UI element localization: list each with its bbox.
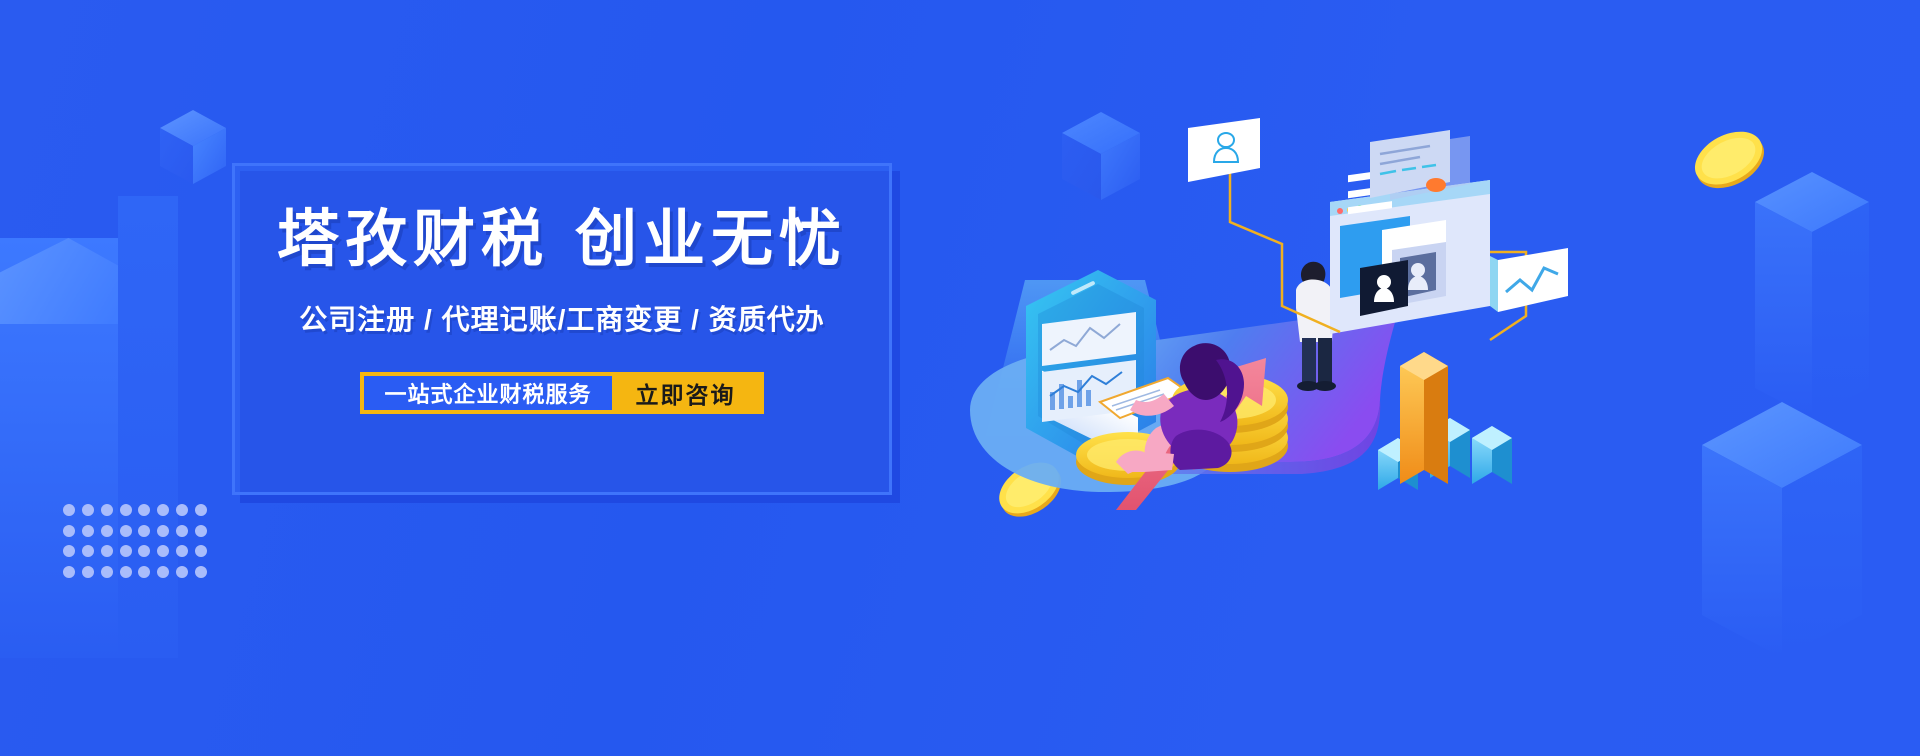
page-title: 塔孜财税创业无忧 — [277, 207, 847, 272]
headline-part-1: 塔孜财税 — [277, 205, 549, 274]
service-tag-label: 一站式企业财税服务 — [364, 376, 611, 410]
coin-icon — [1688, 122, 1770, 196]
decor-left-pillar-top — [0, 238, 118, 324]
consult-now-button[interactable]: 立即咨询 — [612, 376, 760, 410]
cta-group[interactable]: 一站式企业财税服务 立即咨询 — [360, 372, 763, 414]
cube-icon — [1700, 400, 1865, 660]
headline-part-2: 创业无忧 — [575, 205, 847, 274]
isometric-finance-illustration — [930, 110, 1570, 510]
services-subtitle: 公司注册 / 代理记账/工商变更 / 资质代办 — [299, 298, 824, 338]
decor-left-pillar-secondary — [118, 196, 178, 658]
decor-left-pillar — [0, 238, 118, 658]
promo-banner: 塔孜财税创业无忧 公司注册 / 代理记账/工商变更 / 资质代办 一站式企业财税… — [0, 0, 1920, 756]
banner-content: 塔孜财税创业无忧 公司注册 / 代理记账/工商变更 / 资质代办 一站式企业财税… — [232, 163, 892, 495]
cube-icon — [1753, 170, 1871, 420]
cube-icon — [158, 108, 228, 186]
dot-grid-pattern — [60, 500, 210, 582]
